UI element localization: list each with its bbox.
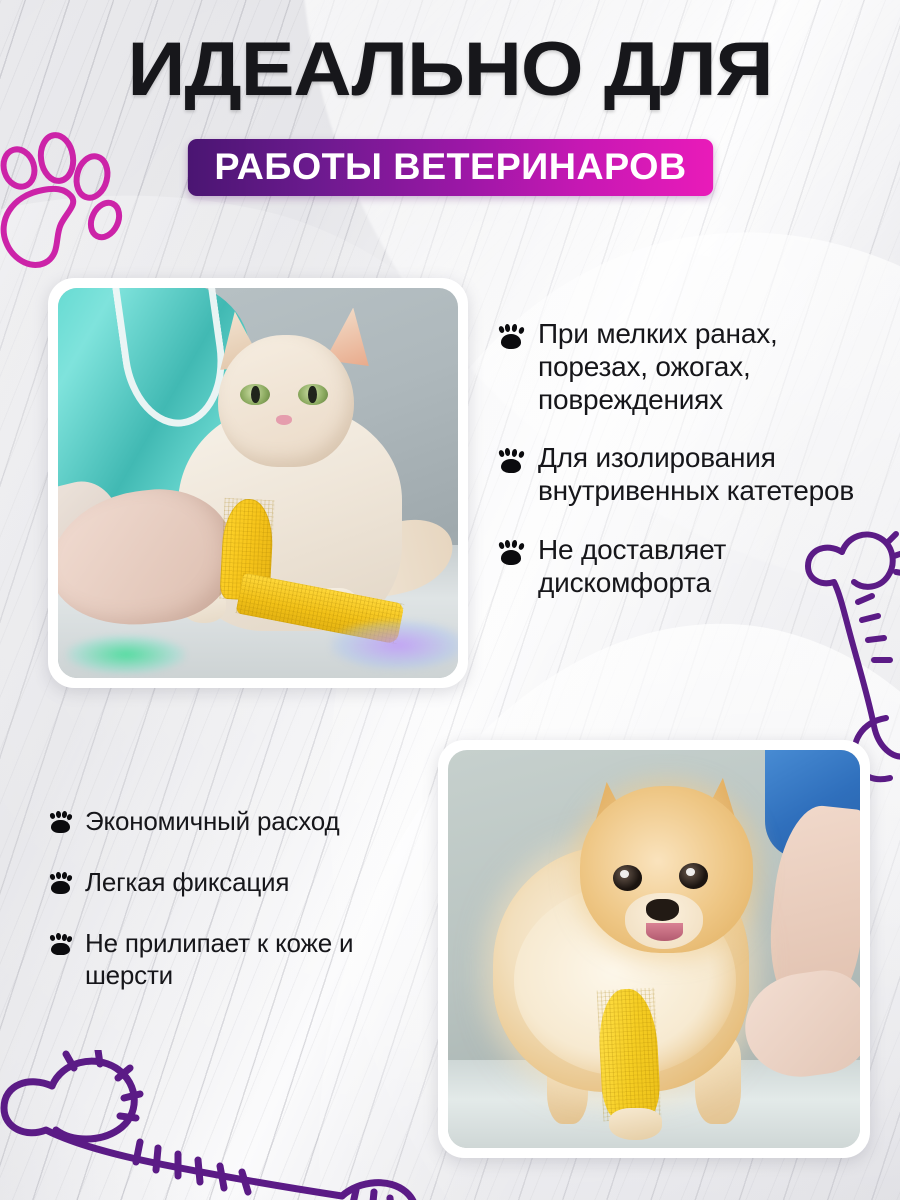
paw-icon — [48, 933, 73, 956]
paw-icon — [497, 324, 525, 350]
list-item: Не доставляет дискомфорта — [497, 534, 883, 600]
paw-icon — [48, 872, 73, 895]
list-item: Легкая фиксация — [48, 867, 398, 898]
page-title: ИДЕАЛЬНО ДЛЯ — [0, 34, 900, 107]
list-item-label: Для изолирования внутривенных катетеров — [538, 442, 883, 508]
list-item-label: Не доставляет дискомфорта — [538, 534, 883, 600]
badge-container: РАБОТЫ ВЕТЕРИНАРОВ — [0, 139, 900, 196]
list-item-label: Легкая фиксация — [85, 867, 289, 898]
photo-card-cat — [48, 278, 468, 688]
subtitle-badge: РАБОТЫ ВЕТЕРИНАРОВ — [187, 139, 712, 196]
list-item: Не прилипает к коже и шерсти — [48, 928, 398, 990]
yellow-tape-dog-leg — [597, 987, 661, 1121]
photo-dog-image — [448, 750, 860, 1148]
paw-icon — [497, 448, 525, 474]
paw-icon — [48, 811, 73, 834]
list-item: Экономичный расход — [48, 806, 398, 837]
list-item-label: Не прилипает к коже и шерсти — [85, 928, 398, 990]
list-item-label: Экономичный расход — [85, 806, 339, 837]
benefits-list-left: Экономичный расход Легкая фиксация Не пр… — [48, 806, 398, 1021]
poster-canvas: ИДЕАЛЬНО ДЛЯ РАБОТЫ ВЕТЕРИНАРОВ — [0, 0, 900, 1200]
list-item: При мелких ранах, порезах, ожогах, повре… — [497, 318, 883, 416]
photo-card-dog — [438, 740, 870, 1158]
photo-cat-image — [58, 288, 458, 678]
benefits-list-right: При мелких ранах, порезах, ожогах, повре… — [497, 318, 883, 625]
list-item: Для изолирования внутривенных катетеров — [497, 442, 883, 508]
list-item-label: При мелких ранах, порезах, ожогах, повре… — [538, 318, 883, 416]
paw-icon — [497, 540, 525, 566]
